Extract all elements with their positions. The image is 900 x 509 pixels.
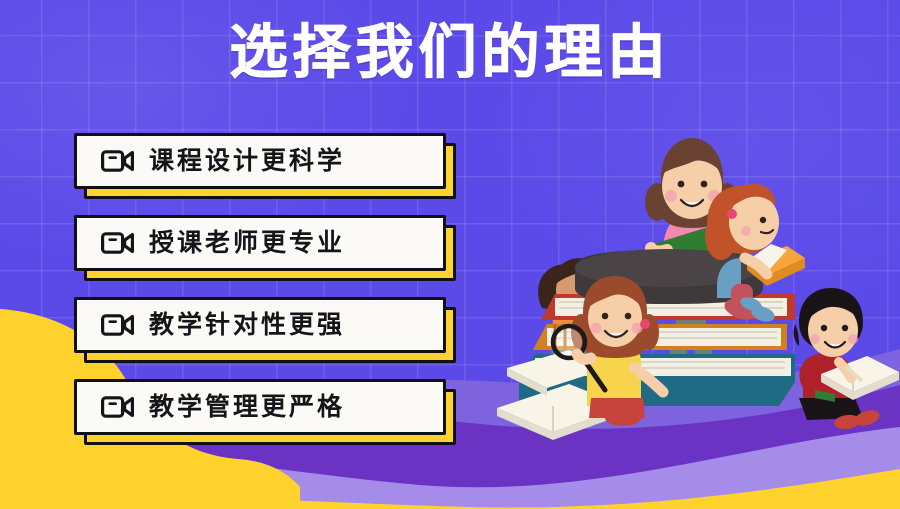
video-camera-icon bbox=[101, 149, 135, 173]
feature-label: 课程设计更科学 bbox=[149, 146, 345, 176]
feature-card[interactable]: 教学针对性更强 bbox=[74, 297, 446, 353]
children-reading-illustration bbox=[495, 118, 900, 448]
poster-canvas: 选择我们的理由 课程设计更科学 授课老师更专业 bbox=[0, 0, 900, 509]
feature-label: 教学针对性更强 bbox=[149, 310, 345, 340]
page-title: 选择我们的理由 bbox=[0, 18, 900, 88]
video-camera-icon bbox=[101, 231, 135, 255]
feature-item-1[interactable]: 课程设计更科学 bbox=[74, 133, 446, 189]
feature-label: 授课老师更专业 bbox=[149, 228, 345, 258]
feature-item-2[interactable]: 授课老师更专业 bbox=[74, 215, 446, 271]
video-camera-icon bbox=[101, 395, 135, 419]
video-camera-icon bbox=[101, 313, 135, 337]
feature-card[interactable]: 教学管理更严格 bbox=[74, 379, 446, 435]
feature-label: 教学管理更严格 bbox=[149, 392, 345, 422]
feature-item-4[interactable]: 教学管理更严格 bbox=[74, 379, 446, 435]
child-boy-red-sweater bbox=[794, 288, 899, 431]
feature-card[interactable]: 课程设计更科学 bbox=[74, 133, 446, 189]
feature-card[interactable]: 授课老师更专业 bbox=[74, 215, 446, 271]
feature-item-3[interactable]: 教学针对性更强 bbox=[74, 297, 446, 353]
feature-list: 课程设计更科学 授课老师更专业 教学 bbox=[74, 133, 446, 435]
